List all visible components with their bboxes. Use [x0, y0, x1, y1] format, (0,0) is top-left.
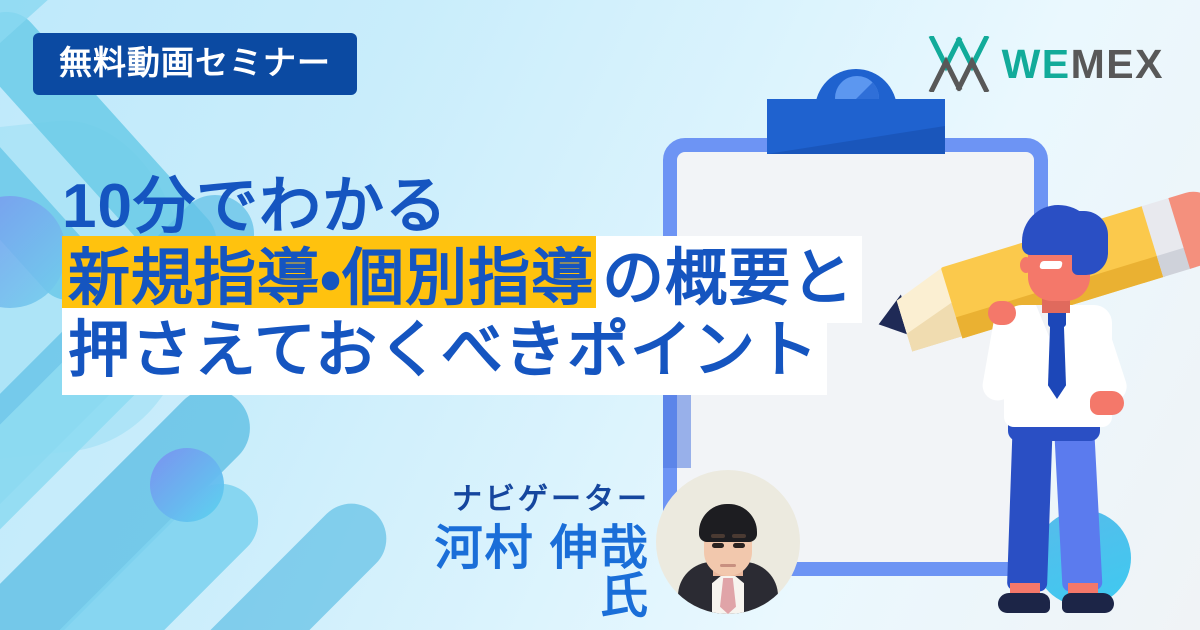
- person-eye: [1039, 261, 1063, 269]
- wemex-w-mark-icon: [928, 36, 990, 92]
- presenter-portrait: [656, 470, 800, 614]
- deco-circle-top-left: [0, 196, 66, 308]
- person-hair-side: [1072, 211, 1108, 275]
- person-tie: [1048, 323, 1066, 399]
- deco-bar-bottom-right-3: [0, 0, 20, 308]
- presenter-name: 河村 伸哉氏: [400, 525, 650, 621]
- presenter-role-label: ナビゲーター: [400, 485, 650, 515]
- portrait-eye-left: [712, 543, 724, 548]
- deco-bar-bottom-left-1: [0, 373, 266, 630]
- logo-text-mex: MEX: [1071, 41, 1164, 87]
- headline-block: 10分でわかる 新規指導・個別指導の概要と 押さえておくべきポイント: [62, 176, 942, 392]
- person-hand-left: [988, 301, 1016, 325]
- person-shoe-left: [998, 593, 1050, 613]
- presenter-block: ナビゲーター 河村 伸哉氏: [400, 485, 650, 621]
- person-hand-right: [1090, 391, 1124, 415]
- wemex-wordmark: WEMEX: [1002, 44, 1164, 85]
- person-shoe-right: [1062, 593, 1114, 613]
- portrait-eye-right: [733, 543, 745, 548]
- portrait-eyebrow-right: [732, 534, 746, 538]
- headline-line-3-text: 押さえておくべきポイント: [62, 308, 827, 395]
- headline-line-3: 押さえておくべきポイント: [62, 320, 942, 382]
- portrait-hair: [699, 504, 757, 542]
- portrait-eyebrow-left: [711, 534, 725, 538]
- headline-line-1: 10分でわかる: [62, 176, 942, 238]
- logo-text-we: WE: [1002, 41, 1071, 87]
- wemex-logo[interactable]: WEMEX: [928, 36, 1164, 92]
- free-video-seminar-badge: 無料動画セミナー: [33, 33, 357, 95]
- headline-line-2: 新規指導・個別指導の概要と: [62, 248, 942, 310]
- businessman-character: [980, 205, 1180, 620]
- deco-bar-bottom-left-3: [139, 489, 401, 630]
- portrait-mouth: [720, 564, 736, 567]
- deco-bar-bottom-left-2: [0, 469, 273, 630]
- seminar-banner: 無料動画セミナー WEMEX 10分でわかる 新規指導・個別指導の概要と 押さえ…: [0, 0, 1200, 630]
- deco-circle-bottom-left: [150, 448, 224, 522]
